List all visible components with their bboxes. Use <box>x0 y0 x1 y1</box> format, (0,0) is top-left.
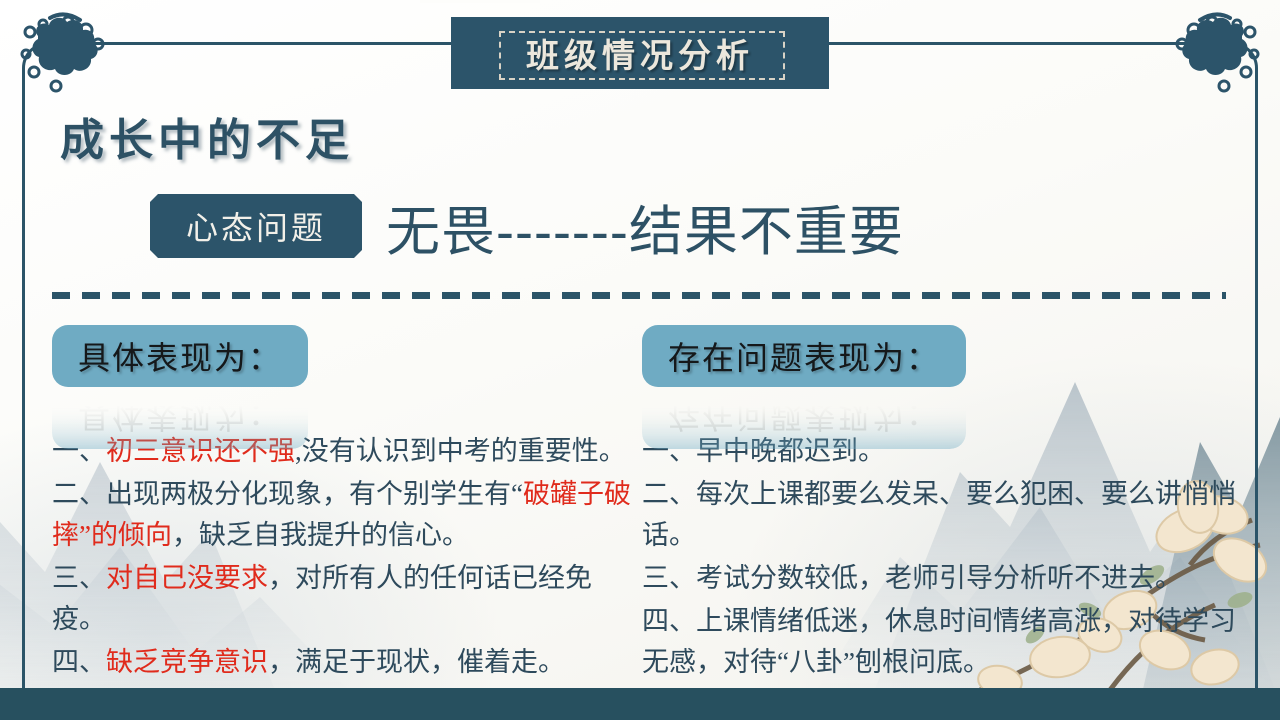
right-item-list: 一、早中晚都迟到。二、每次上课都要么发呆、要么犯困、要么讲悄悄话。三、考试分数较… <box>642 431 1242 683</box>
frame-notch-right <box>700 0 820 3</box>
list-item-index: 三、 <box>52 563 106 593</box>
left-heading-reflection: 具体表现为： <box>52 387 308 449</box>
topic-statement: 无畏-------结果不重要 <box>386 187 904 266</box>
list-item: 四、缺乏竞争意识，满足于现状，催着走。 <box>52 642 632 683</box>
list-item-index: 三、 <box>642 563 696 593</box>
list-item-text: 每次上课都要么发呆、要么犯困、要么讲悄悄话。 <box>642 479 1236 550</box>
frame-notch-left <box>420 0 540 3</box>
list-item: 二、出现两极分化现象，有个别学生有“破罐子破摔”的倾向，缺乏自我提升的信心。 <box>52 474 632 556</box>
title-ribbon: 班级情况分析 <box>451 17 829 89</box>
bottom-bar <box>0 688 1280 720</box>
list-item: 三、对自己没要求，对所有人的任何话已经免疫。 <box>52 558 632 640</box>
list-item-index: 四、 <box>52 647 106 677</box>
right-heading-wrap: 存在问题表现为： 存在问题表现为： <box>642 325 1242 387</box>
left-column-heading: 具体表现为： <box>52 325 308 387</box>
right-heading-reflection: 存在问题表现为： <box>642 387 966 449</box>
list-item: 四、上课情绪低迷，休息时间情绪高涨，对待学习无感，对待“八卦”刨根问底。 <box>642 601 1242 683</box>
list-item-index: 二、 <box>52 479 106 509</box>
list-item-index: 二、 <box>642 479 696 509</box>
page-title: 成长中的不足 <box>60 104 354 168</box>
ribbon-title-text: 班级情况分析 <box>451 17 829 89</box>
list-item-index: 四、 <box>642 606 696 636</box>
topic-tag-badge: 心态问题 <box>150 194 362 258</box>
list-item: 二、每次上课都要么发呆、要么犯困、要么讲悄悄话。 <box>642 474 1242 556</box>
left-item-list: 一、初三意识还不强,没有认识到中考的重要性。二、出现两极分化现象，有个别学生有“… <box>52 431 632 683</box>
left-heading-wrap: 具体表现为： 具体表现为： <box>52 325 632 387</box>
list-item-text: 出现两极分化现象，有个别学生有“ <box>106 479 523 509</box>
list-item-highlight: 对自己没要求 <box>106 563 268 593</box>
list-item-text: 考试分数较低，老师引导分析听不进去。 <box>696 563 1182 593</box>
right-column-heading: 存在问题表现为： <box>642 325 966 387</box>
right-column: 存在问题表现为： 存在问题表现为： 一、早中晚都迟到。二、每次上课都要么发呆、要… <box>642 325 1242 685</box>
list-item-highlight: 缺乏竞争意识 <box>106 647 268 677</box>
dashed-divider <box>52 292 1226 299</box>
left-column: 具体表现为： 具体表现为： 一、初三意识还不强,没有认识到中考的重要性。二、出现… <box>52 325 632 685</box>
list-item-text: 上课情绪低迷，休息时间情绪高涨，对待学习无感，对待“八卦”刨根问底。 <box>642 606 1236 677</box>
topic-row: 心态问题 无畏-------结果不重要 <box>150 190 904 262</box>
list-item-text: ，缺乏自我提升的信心。 <box>172 520 469 550</box>
slide-canvas: 班级情况分析 成长中的不足 心态问题 无畏-------结果不重要 具体表现为：… <box>0 0 1280 720</box>
list-item-text: ,没有认识到中考的重要性。 <box>295 436 626 466</box>
list-item: 三、考试分数较低，老师引导分析听不进去。 <box>642 558 1242 599</box>
list-item-text: ，满足于现状，催着走。 <box>268 647 565 677</box>
